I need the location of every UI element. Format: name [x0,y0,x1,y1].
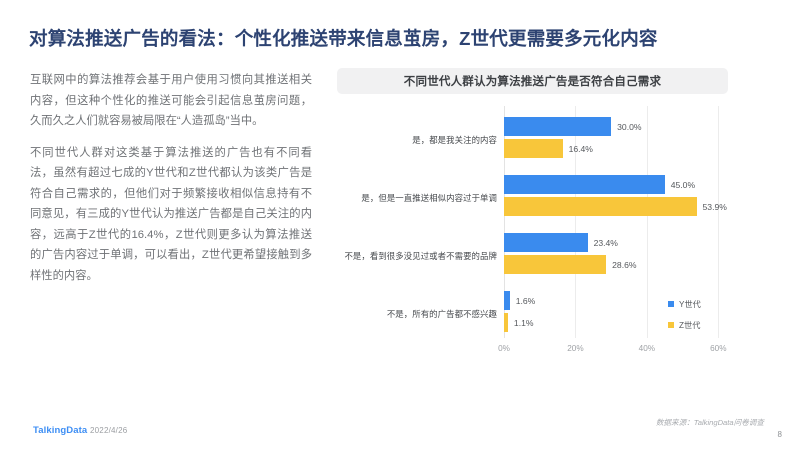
chart-category-label: 不是，所有的广告都不感兴趣 [337,285,497,343]
chart-bar[interactable] [504,197,697,216]
legend-swatch-icon [668,301,674,307]
legend-swatch-icon [668,322,674,328]
source-note: 数据来源：TalkingData问卷调查 [656,417,764,428]
chart-bar[interactable] [504,291,510,310]
chart-bar-row: 1.6% [504,291,535,310]
chart-bar-group: 不是，看到很多没见过或者不需要的品牌23.4%28.6% [337,227,728,285]
narrative-column: 互联网中的算法推荐会基于用户使用习惯向其推送相关内容，但这种个性化的推送可能会引… [30,70,312,286]
page-number: 8 [778,430,782,439]
page-title: 对算法推送广告的看法：个性化推送带来信息茧房，Z世代更需要多元化内容 [29,26,774,52]
x-axis-tick: 60% [710,344,726,353]
chart-title-bar: 不同世代人群认为算法推送广告是否符合自己需求 [337,68,728,94]
chart-category-label: 是，都是我关注的内容 [337,111,497,169]
chart-bar-group: 是，都是我关注的内容30.0%16.4% [337,111,728,169]
chart-bar-value: 23.4% [594,238,618,248]
chart-legend-label: Y世代 [679,298,701,310]
chart-bar-row: 30.0% [504,117,642,136]
chart-bar-row: 1.1% [504,313,534,332]
chart-plot-area: 是，都是我关注的内容30.0%16.4%是，但是一直推送相似内容过于单调45.0… [337,106,728,378]
footer-date: 2022/4/26 [90,426,127,435]
chart-bar[interactable] [504,175,665,194]
chart-title: 不同世代人群认为算法推送广告是否符合自己需求 [404,73,661,89]
chart-bar[interactable] [504,139,563,158]
chart-x-axis: 0%20%40%60% [337,340,728,360]
chart-bar-value: 28.6% [612,260,636,270]
chart-bar-row: 16.4% [504,139,593,158]
chart-bar[interactable] [504,117,611,136]
slide-root: 对算法推送广告的看法：个性化推送带来信息茧房，Z世代更需要多元化内容 互联网中的… [0,0,800,450]
chart-bar-value: 45.0% [671,180,695,190]
chart-bar[interactable] [504,255,606,274]
chart-legend-item[interactable]: Y世代 [668,298,738,310]
chart-bar-row: 45.0% [504,175,695,194]
chart-bar-row: 23.4% [504,233,618,252]
x-axis-tick: 0% [498,344,510,353]
x-axis-tick: 20% [567,344,583,353]
chart-legend: Y世代Z世代 [668,298,738,340]
x-axis-tick: 40% [639,344,655,353]
narrative-paragraph: 不同世代人群对这类基于算法推送的广告也有不同看法，虽然有超过七成的Y世代和Z世代… [30,143,312,287]
chart-panel: 不同世代人群认为算法推送广告是否符合自己需求 是，都是我关注的内容30.0%16… [337,68,728,378]
narrative-paragraph: 互联网中的算法推荐会基于用户使用习惯向其推送相关内容，但这种个性化的推送可能会引… [30,70,312,132]
chart-bar-value: 53.9% [703,202,727,212]
chart-bar-row: 53.9% [504,197,727,216]
talkingdata-logo: TalkingData [33,425,87,436]
chart-bar-group: 是，但是一直推送相似内容过于单调45.0%53.9% [337,169,728,227]
chart-bar-value: 30.0% [617,122,641,132]
chart-bar-value: 1.6% [516,296,536,306]
chart-category-label: 是，但是一直推送相似内容过于单调 [337,169,497,227]
chart-bar-value: 16.4% [569,144,593,154]
chart-legend-label: Z世代 [679,319,700,331]
chart-bar-value: 1.1% [514,318,534,328]
chart-category-label: 不是，看到很多没见过或者不需要的品牌 [337,227,497,285]
chart-bar[interactable] [504,233,588,252]
chart-bar[interactable] [504,313,508,332]
chart-bar-row: 28.6% [504,255,637,274]
chart-legend-item[interactable]: Z世代 [668,319,738,331]
